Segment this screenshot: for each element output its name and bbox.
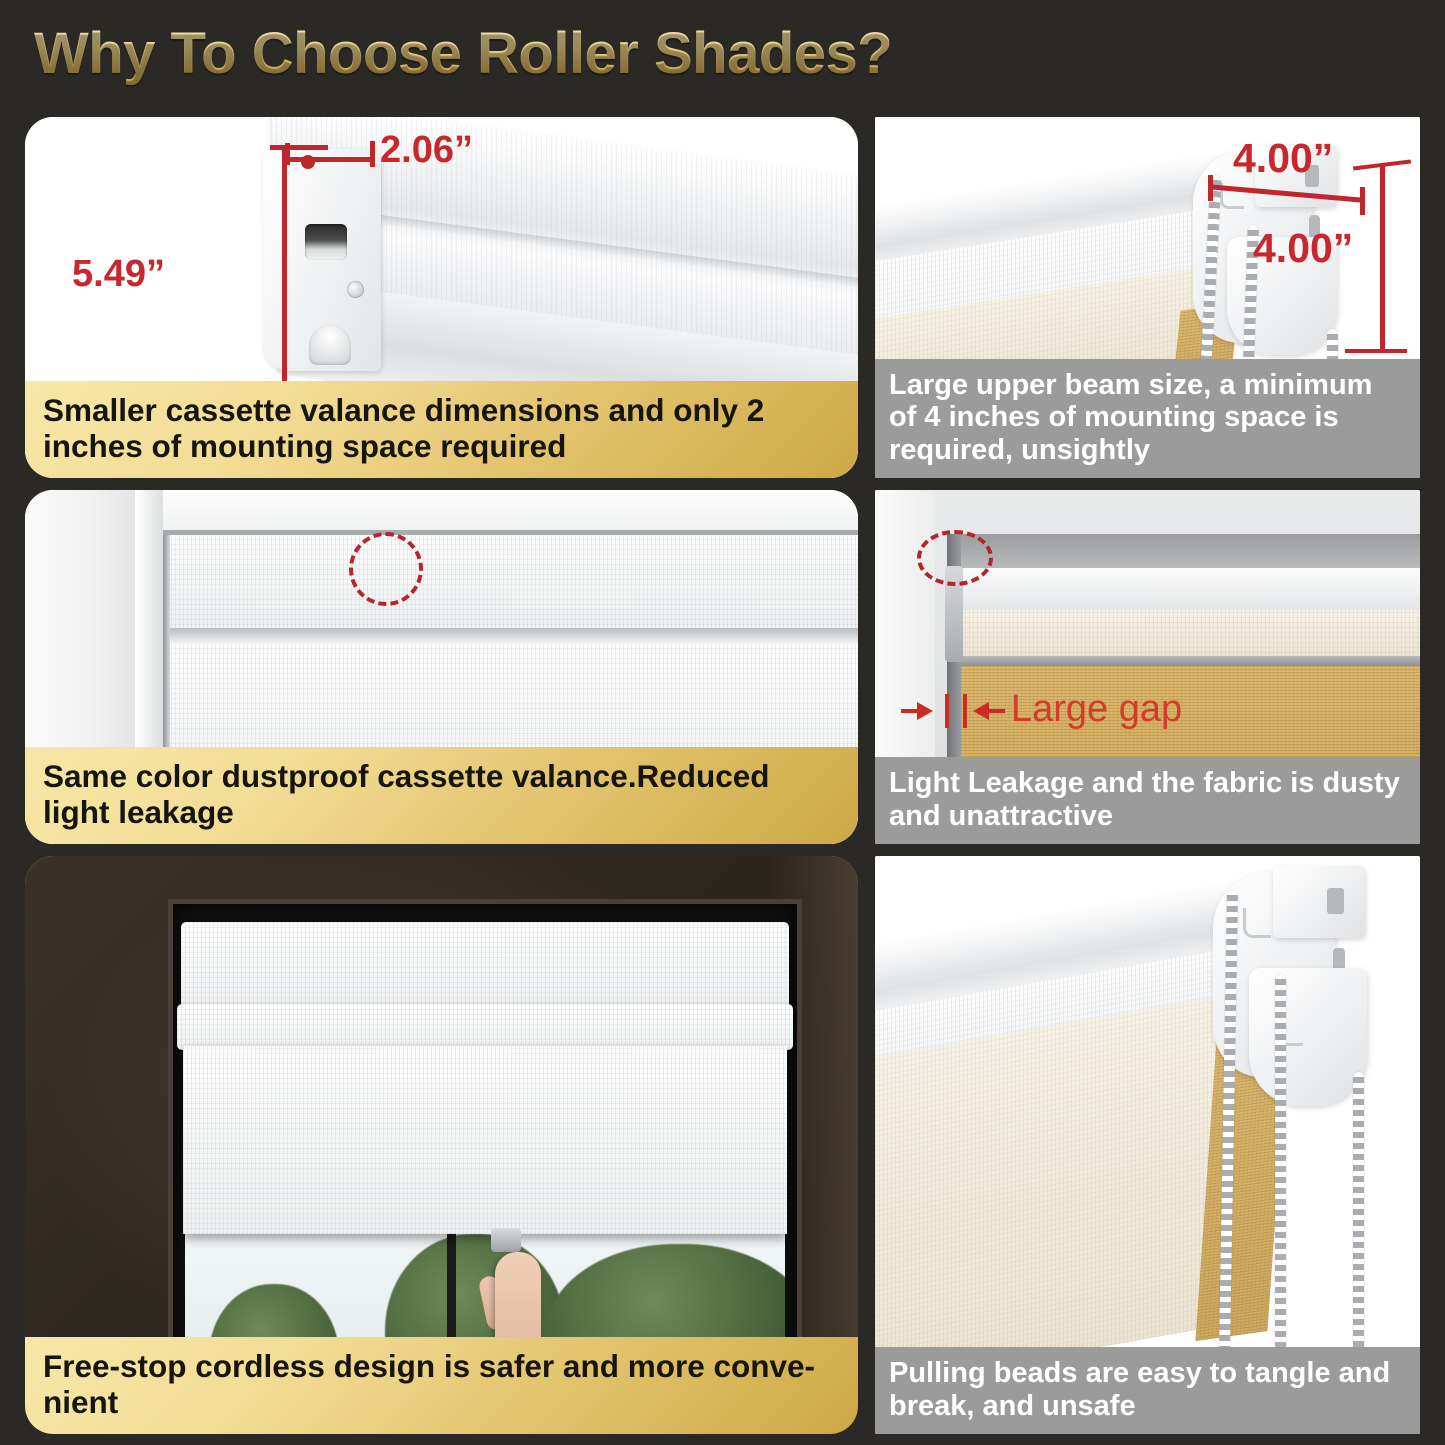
- height-dim-cap-top: [270, 145, 328, 150]
- shade-fabric-body: [183, 1046, 787, 1234]
- bracket-slot-upper: [1327, 888, 1344, 914]
- panel-1-caption: Smaller cassette valance dimensions and …: [25, 381, 858, 478]
- panel-smaller-cassette[interactable]: 2.06” 5.49” Smaller cassette valance dim…: [25, 117, 858, 478]
- valance-rail: [163, 628, 858, 644]
- panel-pulling-beads[interactable]: Pulling beads are easy to tangle and bre…: [875, 856, 1420, 1434]
- bracket-icon-upper: [1243, 908, 1271, 938]
- height-dimension-label: 5.49”: [72, 253, 165, 296]
- valance-top-shadow: [163, 530, 858, 535]
- panel-light-leakage[interactable]: Large gap Light Leakage and the fabric i…: [875, 490, 1420, 844]
- panel-large-upper-beam[interactable]: 4.00” 4.00” Large upper beam size, a min…: [875, 117, 1420, 478]
- header-bar: Why To Choose Roller Shades?: [0, 0, 1445, 112]
- bracket-lower-lobe: [1249, 968, 1367, 1106]
- beam-height-label: 4.00”: [1253, 225, 1353, 272]
- gap-tick-left: [945, 694, 949, 728]
- head-rail: [955, 568, 1420, 614]
- bead-chain-right: [1353, 1072, 1364, 1352]
- panel-3-caption: Same color dustproof cassette valance.Re…: [25, 747, 858, 844]
- gap-tick-right: [963, 694, 967, 728]
- highlight-circle: [349, 532, 423, 606]
- beam-height-dim-line: [1380, 165, 1385, 351]
- width-dim-line: [287, 157, 375, 162]
- panel-5-caption: Free-stop cordless design is safer and m…: [25, 1337, 858, 1434]
- highlight-circle: [917, 530, 993, 586]
- beam-width-cap-right: [1360, 187, 1365, 215]
- width-dim-cap-right: [370, 141, 375, 167]
- comparison-grid: 2.06” 5.49” Smaller cassette valance dim…: [0, 112, 1445, 1445]
- bead-chain-middle: [1275, 974, 1286, 1352]
- valance-end-cap: [263, 149, 381, 371]
- upper-shadow-band: [947, 534, 1420, 570]
- gap-arrow-stem-left: [901, 709, 919, 713]
- width-dimension-label: 2.06”: [380, 129, 473, 172]
- beam-width-cap-left: [1208, 175, 1213, 201]
- gap-arrow-stem-right: [989, 709, 1005, 713]
- large-gap-label: Large gap: [1011, 688, 1182, 731]
- shade-fabric-upper: [961, 610, 1420, 658]
- shade-middle-rail: [177, 1004, 793, 1050]
- gap-arrow-left-icon: [973, 702, 989, 720]
- end-cap-screw: [347, 281, 364, 298]
- shade-pull-tab: [491, 1228, 521, 1252]
- panel-cordless-design[interactable]: Free-stop cordless design is safer and m…: [25, 856, 858, 1434]
- end-cap-slot: [305, 224, 347, 260]
- page-title: Why To Choose Roller Shades?: [34, 20, 892, 87]
- panel-6-caption: Pulling beads are easy to tangle and bre…: [875, 1347, 1420, 1434]
- end-cap-dial: [309, 325, 351, 365]
- beam-height-cap-bottom: [1345, 349, 1407, 353]
- window-head-trim: [163, 490, 858, 530]
- beam-width-label: 4.00”: [1233, 135, 1333, 182]
- gap-arrow-right-icon: [917, 702, 933, 720]
- panel-2-caption: Large upper beam size, a minimum of 4 in…: [875, 359, 1420, 478]
- panel-dustproof-valance[interactable]: smaller gap Same color dustproof cassett…: [25, 490, 858, 844]
- cassette-valance: [163, 530, 858, 630]
- bottom-rail: [961, 656, 1420, 666]
- panel-4-caption: Light Leakage and the fabric is dusty an…: [875, 757, 1420, 844]
- shade-valance: [181, 922, 789, 1008]
- bracket-top-plate: [1273, 866, 1365, 938]
